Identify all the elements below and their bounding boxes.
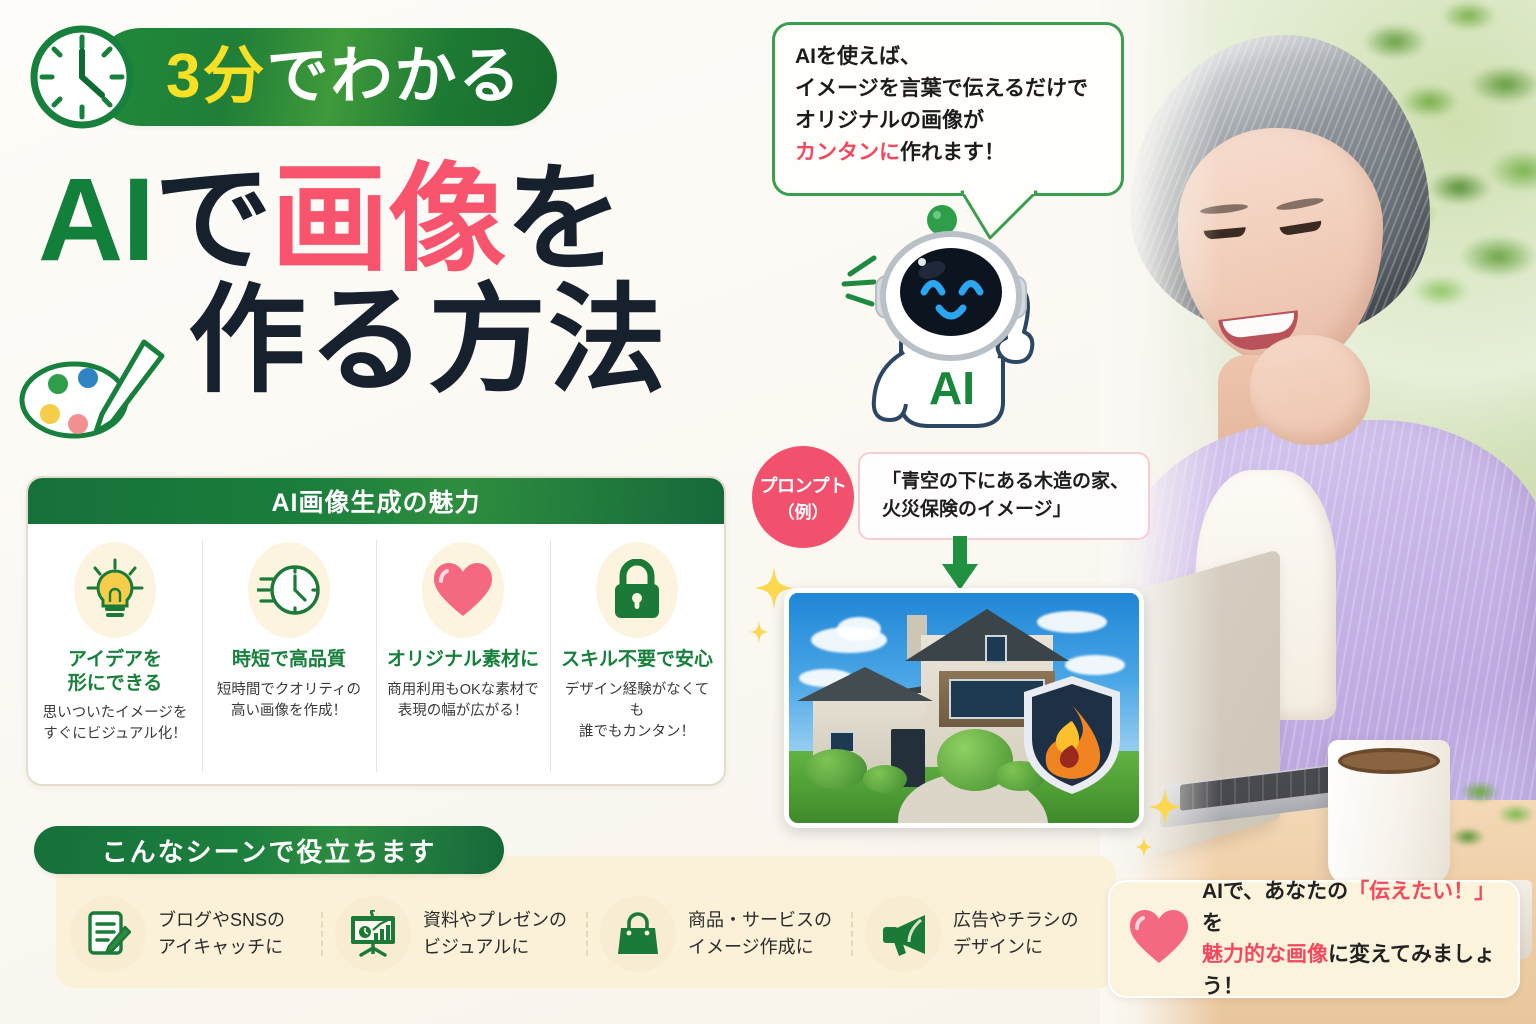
- title-gazou: 画像: [271, 154, 505, 286]
- lock-icon: [596, 542, 678, 638]
- cloud: [837, 617, 881, 641]
- feature-title-l1: オリジナル素材に: [387, 649, 539, 670]
- scene-item-text: 商品・サービスの イメージ作成に: [688, 907, 832, 961]
- robot-mascot-icon: AI: [846, 196, 1076, 446]
- scene-item-text: 資料やプレゼンの ビジュアルに: [423, 907, 567, 961]
- cloud: [1065, 655, 1125, 675]
- arrow-down-icon: [938, 536, 982, 592]
- cta-text: AIで、あなたの「伝えたい！」を 魅力的な画像に変えてみましょう！: [1202, 876, 1500, 1002]
- badge-minutes: 3: [166, 42, 202, 111]
- feature-panel: AI画像生成の魅力: [26, 476, 726, 786]
- top-badge: 3分でわかる: [26, 18, 557, 136]
- scenes-header: こんなシーンで役立ちます: [34, 826, 504, 874]
- sparkle-small-icon: [748, 620, 770, 644]
- feature-title-l2: 形にできる: [68, 673, 163, 694]
- feature-card-desc: 短時間でクオリティの 高い画像を作成！: [217, 680, 361, 722]
- scene-line-2: イメージ作成に: [688, 937, 814, 957]
- feature-desc-l1: デザイン経験がなくても: [565, 682, 710, 719]
- prompt-text-line-1: 「青空の下にある木造の家、: [882, 468, 1129, 497]
- megaphone-icon: [865, 896, 941, 972]
- cta-heart-icon: [1128, 908, 1190, 971]
- clock-icon: [26, 21, 138, 133]
- bubble-line-3: オリジナルの画像が: [795, 105, 1101, 137]
- feature-card-list: アイデアを 形にできる 思いついたイメージを すぐにビジュアル化！: [28, 524, 724, 786]
- feature-desc-l2: 誰でもカンタン！: [579, 724, 695, 740]
- feature-desc-l1: 思いついたイメージを: [43, 705, 188, 721]
- scene-item: ブログやSNSの アイキャッチに: [56, 896, 321, 972]
- robot-label: AI: [929, 362, 975, 414]
- panel-header: AI画像生成の魅力: [28, 478, 724, 524]
- document-pencil-icon: [70, 896, 146, 972]
- feature-desc-l2: 表現の幅が広がる！: [398, 703, 529, 719]
- bush: [863, 765, 907, 793]
- title-ai: AI: [38, 154, 154, 286]
- panel-heading: AI画像生成の魅力: [271, 483, 480, 519]
- scene-item: 広告やチラシの デザインに: [851, 896, 1116, 972]
- heart-icon: [422, 542, 504, 638]
- scene-line-1: 商品・サービスの: [688, 910, 832, 930]
- feature-title-l1: 時短で高品質: [232, 649, 346, 670]
- feature-card-title: 時短で高品質: [232, 648, 346, 672]
- bubble-line-4-rest: 作れます！: [900, 141, 1005, 164]
- feature-desc-l2: すぐにビジュアル化！: [43, 726, 187, 742]
- scene-line-1: 資料やプレゼンの: [423, 910, 567, 930]
- prompt-example-box: 「青空の下にある木造の家、 火災保険のイメージ」: [858, 452, 1150, 540]
- cta-line1-b: を: [1202, 912, 1223, 935]
- feature-desc-l1: 短時間でクオリティの: [217, 682, 361, 698]
- title-line-1: AIで画像を: [38, 160, 818, 280]
- generated-image: [784, 588, 1144, 828]
- cta-box: AIで、あなたの「伝えたい！」を 魅力的な画像に変えてみましょう！: [1108, 880, 1520, 998]
- feature-desc-l1: 商用利用もOKな素材で: [387, 682, 538, 698]
- roof-wing: [797, 667, 933, 701]
- feature-title-l1: スキル不要で安心: [561, 649, 713, 670]
- badge-rest: でわかる: [267, 42, 523, 111]
- palette-icon: [16, 338, 176, 448]
- fire-shield-icon: [1019, 673, 1125, 797]
- scene-list: ブログやSNSの アイキャッチに: [56, 880, 1116, 988]
- scene-item: 商品・サービスの イメージ作成に: [586, 896, 851, 972]
- feature-card-title: アイデアを 形にできる: [68, 648, 163, 695]
- scene-line-1: ブログやSNSの: [158, 910, 285, 930]
- prompt-badge-line-2: （例）: [778, 498, 829, 523]
- bubble-line-2: イメージを言葉で伝えるだけで: [795, 73, 1101, 105]
- feature-desc-l2: 高い画像を作成！: [231, 703, 347, 719]
- feature-card-title: スキル不要で安心: [561, 648, 713, 672]
- feature-card-desc: デザイン経験がなくても 誰でもカンタン！: [558, 680, 716, 743]
- feature-title-l1: アイデアを: [68, 649, 162, 670]
- sparkle-icon-2: [1148, 788, 1182, 826]
- scenes-heading: こんなシーンで役立ちます: [102, 832, 437, 869]
- lightbulb-icon: [74, 542, 156, 638]
- window: [985, 635, 1007, 663]
- scene-line-2: アイキャッチに: [158, 937, 283, 957]
- scene-item: 資料やプレゼンの ビジュアルに: [321, 896, 586, 972]
- cta-line2-accent: 魅力的な画像: [1202, 943, 1328, 966]
- presentation-chart-icon: [335, 896, 411, 972]
- bubble-accent: カンタンに: [795, 141, 900, 164]
- title-wo: を: [505, 154, 622, 286]
- page-title: AIで画像を 作る方法: [38, 160, 818, 404]
- badge-pill: 3分でわかる: [92, 28, 557, 126]
- bush: [805, 749, 867, 789]
- shopping-bag-icon: [600, 896, 676, 972]
- feature-card-desc: 商用利用もOKな素材で 表現の幅が広がる！: [387, 680, 538, 722]
- feature-card: スキル不要で安心 デザイン経験がなくても 誰でもカンタン！: [550, 524, 724, 786]
- sparkle-small-icon-2: [1134, 836, 1154, 858]
- feature-card-title: オリジナル素材に: [387, 648, 539, 672]
- feature-card-desc: 思いついたイメージを すぐにビジュアル化！: [43, 703, 188, 745]
- title-line-2: 作る方法: [188, 280, 818, 404]
- scene-line-2: デザインに: [953, 937, 1043, 957]
- hand: [1250, 335, 1370, 445]
- badge-unit: 分: [202, 42, 266, 111]
- clock-fast-icon: [248, 542, 330, 638]
- infographic-canvas: 3分でわかる AIで画像を 作る方法 AIを使えば、 イメージを言葉で伝えるだけ…: [0, 0, 1536, 1024]
- photo-woman-laptop: [1100, 0, 1536, 1024]
- scene-line-2: ビジュアルに: [423, 937, 529, 957]
- feature-card: 時短で高品質 短時間でクオリティの 高い画像を作成！: [202, 524, 376, 786]
- feature-card: オリジナル素材に 商用利用もOKな素材で 表現の幅が広がる！: [376, 524, 550, 786]
- scene-item-text: 広告やチラシの デザインに: [953, 907, 1079, 961]
- prompt-text-line-2: 火災保険のイメージ」: [882, 496, 1129, 525]
- scene-line-1: 広告やチラシの: [953, 910, 1079, 930]
- cta-line1-accent: 「伝えたい！」: [1348, 880, 1495, 903]
- scene-item-text: ブログやSNSの アイキャッチに: [158, 907, 285, 961]
- badge-text: 3分でわかる: [166, 46, 523, 108]
- speech-bubble: AIを使えば、 イメージを言葉で伝えるだけで オリジナルの画像が カンタンに作れ…: [772, 22, 1124, 196]
- bubble-line-1: AIを使えば、: [795, 41, 1101, 73]
- prompt-badge-line-1: プロンプト: [760, 472, 847, 498]
- feature-card: アイデアを 形にできる 思いついたイメージを すぐにビジュアル化！: [28, 524, 202, 786]
- title-de: で: [154, 154, 271, 286]
- prompt-badge: プロンプト （例）: [752, 446, 854, 548]
- cta-line1-a: AIで、あなたの: [1202, 880, 1348, 903]
- bubble-line-4: カンタンに作れます！: [795, 137, 1101, 169]
